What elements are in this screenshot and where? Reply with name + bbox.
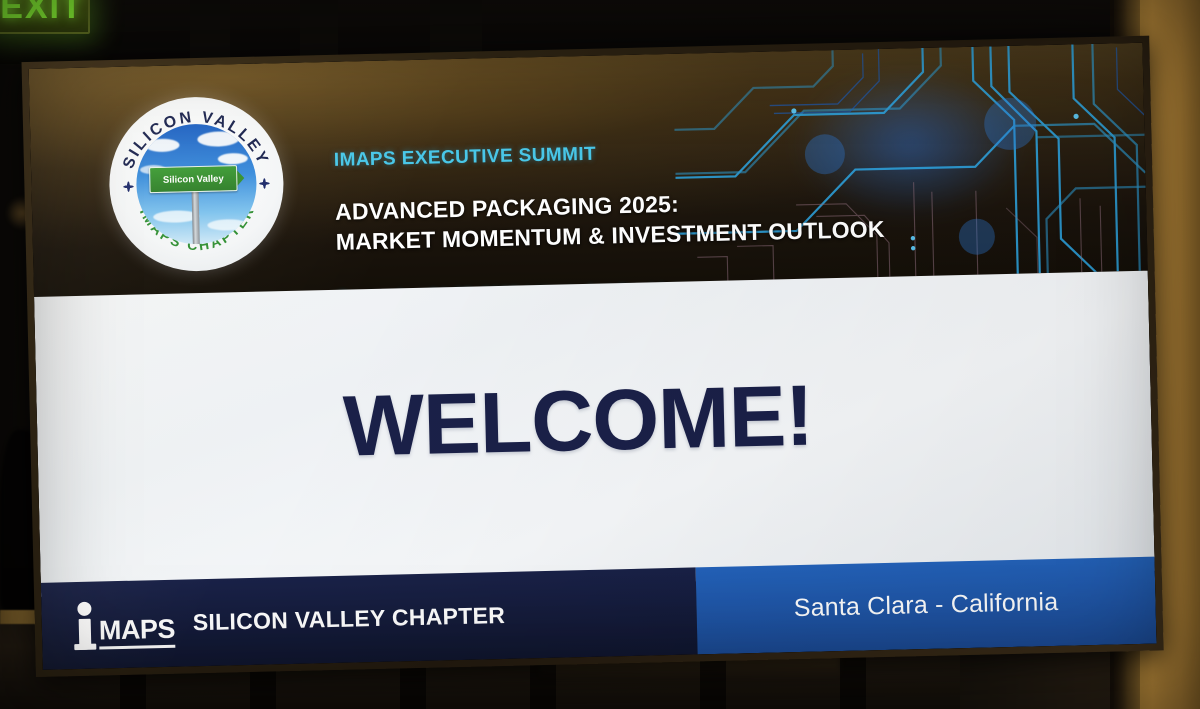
ceiling-panel-2: [300, 0, 338, 62]
exit-sign: EXIT: [0, 0, 90, 34]
imaps-wordmark: MAPS: [99, 615, 176, 649]
silicon-valley-imaps-logo: SILICON VALLEY IMAPS CHAPTER: [107, 95, 285, 273]
slide-headline: ADVANCED PACKAGING 2025: MARKET MOMENTUM…: [335, 184, 885, 258]
conference-room-scene: EXIT: [0, 0, 1200, 709]
ceiling-panel-1: [190, 0, 230, 62]
display-panel: SILICON VALLEY IMAPS CHAPTER: [29, 43, 1157, 670]
footer-right-panel: Santa Clara - California: [696, 557, 1157, 655]
presentation-display: SILICON VALLEY IMAPS CHAPTER: [22, 36, 1164, 677]
badge-star-left: [120, 178, 136, 194]
footer-left-panel: MAPS SILICON VALLEY CHAPTER: [41, 567, 698, 669]
slide-kicker: IMAPS EXECUTIVE SUMMIT: [334, 144, 597, 172]
location-label: Santa Clara - California: [793, 588, 1058, 623]
cloud: [197, 131, 239, 147]
imaps-i-serif: [74, 643, 96, 650]
welcome-title: WELCOME!: [342, 367, 814, 477]
slide-header: SILICON VALLEY IMAPS CHAPTER: [29, 43, 1148, 297]
imaps-i-dot: [77, 601, 91, 615]
cloud: [218, 153, 248, 165]
chapter-label: SILICON VALLEY CHAPTER: [192, 602, 505, 636]
exit-sign-label: EXIT: [0, 0, 84, 27]
presentation-slide: SILICON VALLEY IMAPS CHAPTER: [29, 43, 1157, 670]
imaps-logo: MAPS: [71, 599, 175, 649]
street-sign-label: Silicon Valley: [163, 173, 224, 185]
cloud: [145, 138, 179, 152]
silicon-valley-street-sign: Silicon Valley: [149, 165, 238, 193]
slide-body: WELCOME!: [34, 271, 1155, 597]
imaps-i-glyph: [71, 601, 98, 650]
badge-star-right: [256, 175, 272, 191]
